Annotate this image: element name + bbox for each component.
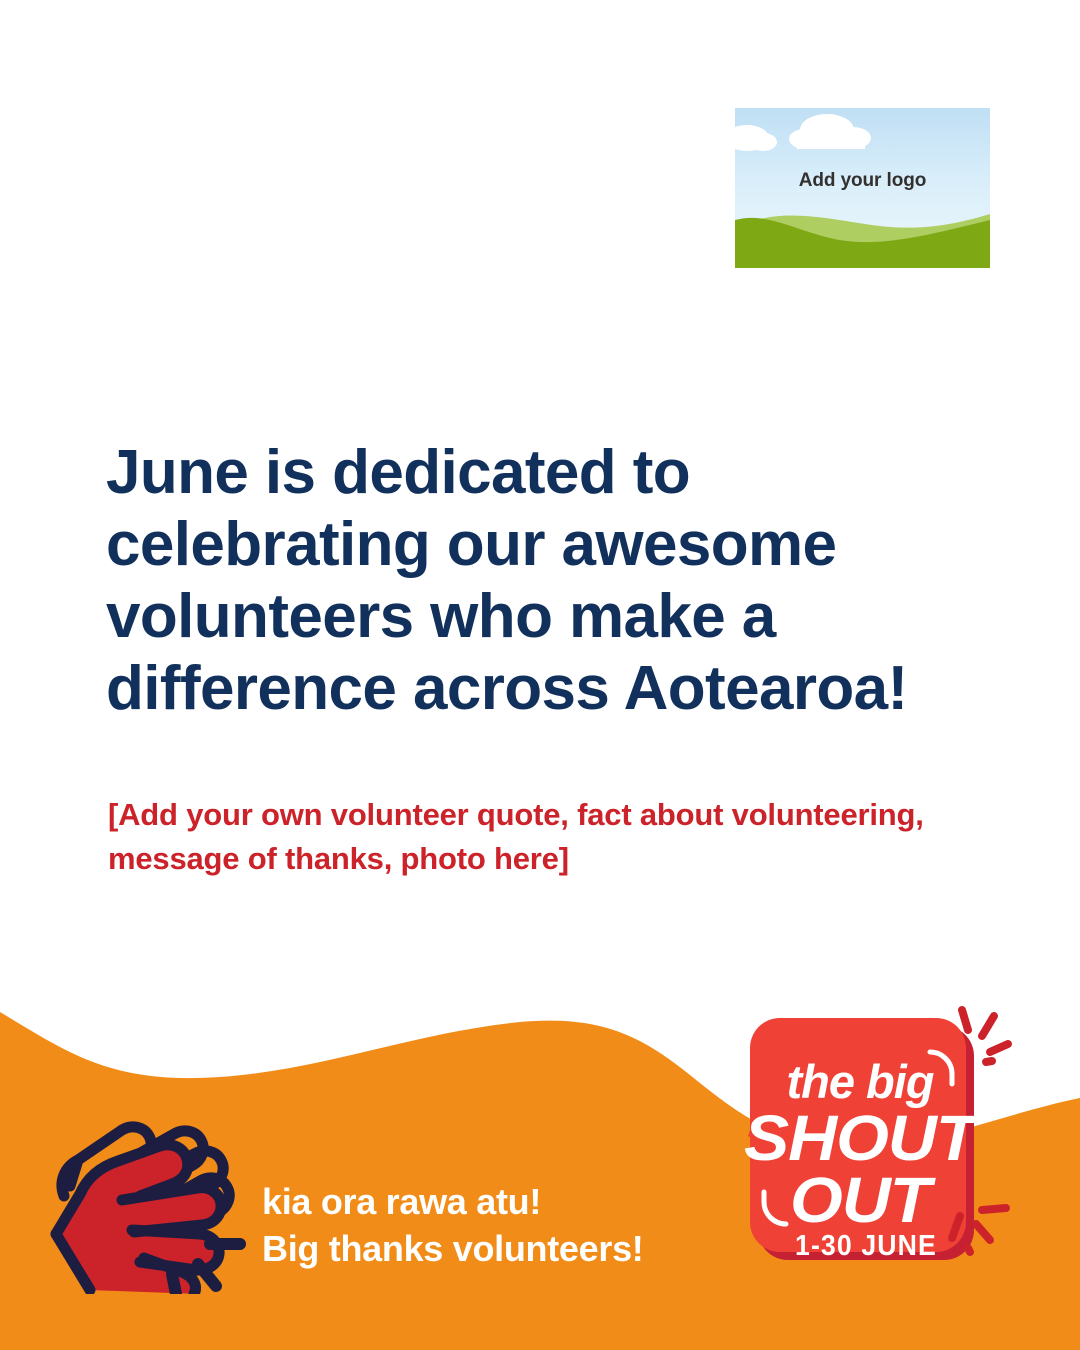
logo-placeholder-label: Add your logo — [735, 170, 990, 192]
poster-canvas: Add your logo June is dedicated to celeb… — [0, 0, 1080, 1350]
subcopy-placeholder: [Add your own volunteer quote, fact abou… — [108, 793, 988, 881]
logo-placeholder[interactable]: Add your logo — [735, 108, 990, 268]
badge-line-1: the big — [786, 1055, 933, 1108]
thanks-line-1: kia ora rawa atu! — [262, 1178, 643, 1225]
cloud-icon — [735, 114, 871, 151]
clapping-hands-icon — [48, 1104, 260, 1294]
badge-date-range: 1-30 JUNE — [795, 1230, 937, 1263]
back-hand-edge — [70, 1160, 78, 1186]
badge-line-3: OUT — [790, 1164, 936, 1236]
thanks-line-2: Big thanks volunteers! — [262, 1225, 643, 1272]
thanks-message: kia ora rawa atu! Big thanks volunteers! — [262, 1178, 643, 1272]
page-title: June is dedicated to celebrating our awe… — [106, 437, 986, 725]
